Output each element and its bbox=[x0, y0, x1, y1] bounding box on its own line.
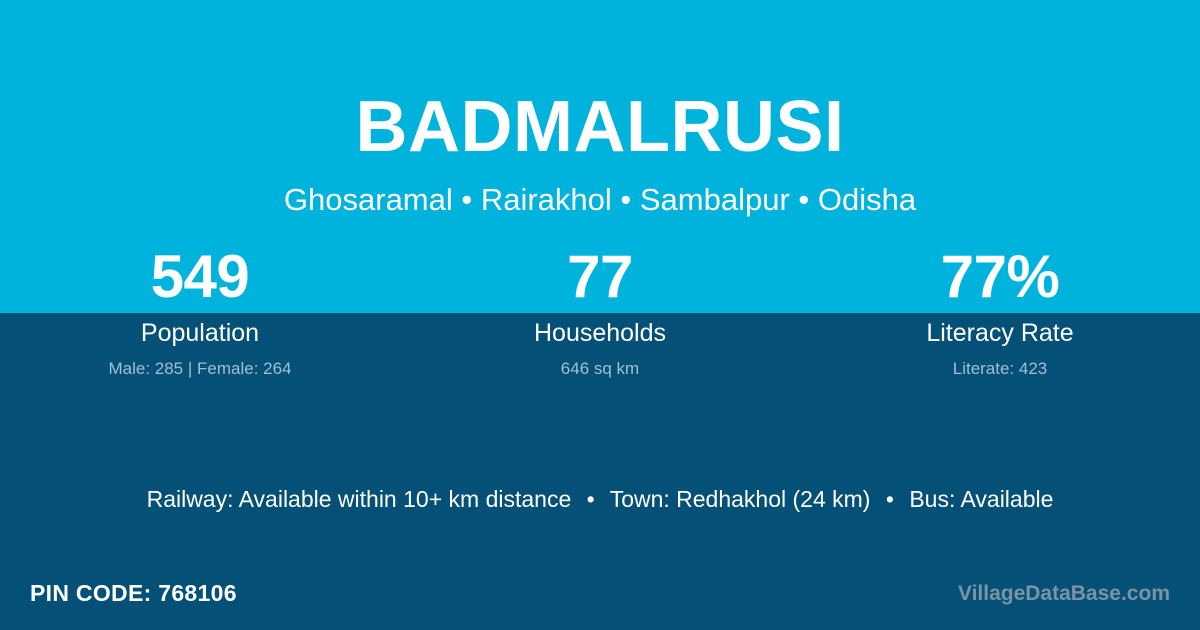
stat-value: 77 bbox=[400, 244, 800, 310]
stats-row: 549 Population Male: 285 | Female: 264 7… bbox=[0, 244, 1200, 379]
amenity-railway: Railway: Available within 10+ km distanc… bbox=[147, 486, 572, 512]
amenity-separator-icon: • bbox=[578, 484, 604, 514]
stat-households: 77 Households 646 sq km bbox=[400, 244, 800, 379]
amenity-separator-icon: • bbox=[877, 484, 903, 514]
stat-population: 549 Population Male: 285 | Female: 264 bbox=[0, 244, 400, 379]
pin-code: PIN CODE: 768106 bbox=[30, 578, 237, 608]
village-title: BADMALRUSI bbox=[0, 83, 1200, 171]
stat-sublabel: Male: 285 | Female: 264 bbox=[0, 358, 400, 379]
stat-sublabel: 646 sq km bbox=[400, 358, 800, 379]
site-watermark: VillageDataBase.com bbox=[958, 580, 1170, 608]
stat-label: Literacy Rate bbox=[800, 318, 1200, 348]
stat-value: 77% bbox=[800, 244, 1200, 310]
stat-sublabel: Literate: 423 bbox=[800, 358, 1200, 379]
amenity-town: Town: Redhakhol (24 km) bbox=[610, 486, 871, 512]
amenity-bus: Bus: Available bbox=[909, 486, 1053, 512]
location-breadcrumb: Ghosaramal • Rairakhol • Sambalpur • Odi… bbox=[0, 182, 1200, 218]
amenities-line: Railway: Available within 10+ km distanc… bbox=[0, 484, 1200, 514]
stat-literacy-rate: 77% Literacy Rate Literate: 423 bbox=[800, 244, 1200, 379]
stat-value: 549 bbox=[0, 244, 400, 310]
stat-label: Households bbox=[400, 318, 800, 348]
card-footer: PIN CODE: 768106 VillageDataBase.com bbox=[0, 578, 1200, 620]
village-info-card: BADMALRUSI Ghosaramal • Rairakhol • Samb… bbox=[0, 0, 1200, 630]
stat-label: Population bbox=[0, 318, 400, 348]
